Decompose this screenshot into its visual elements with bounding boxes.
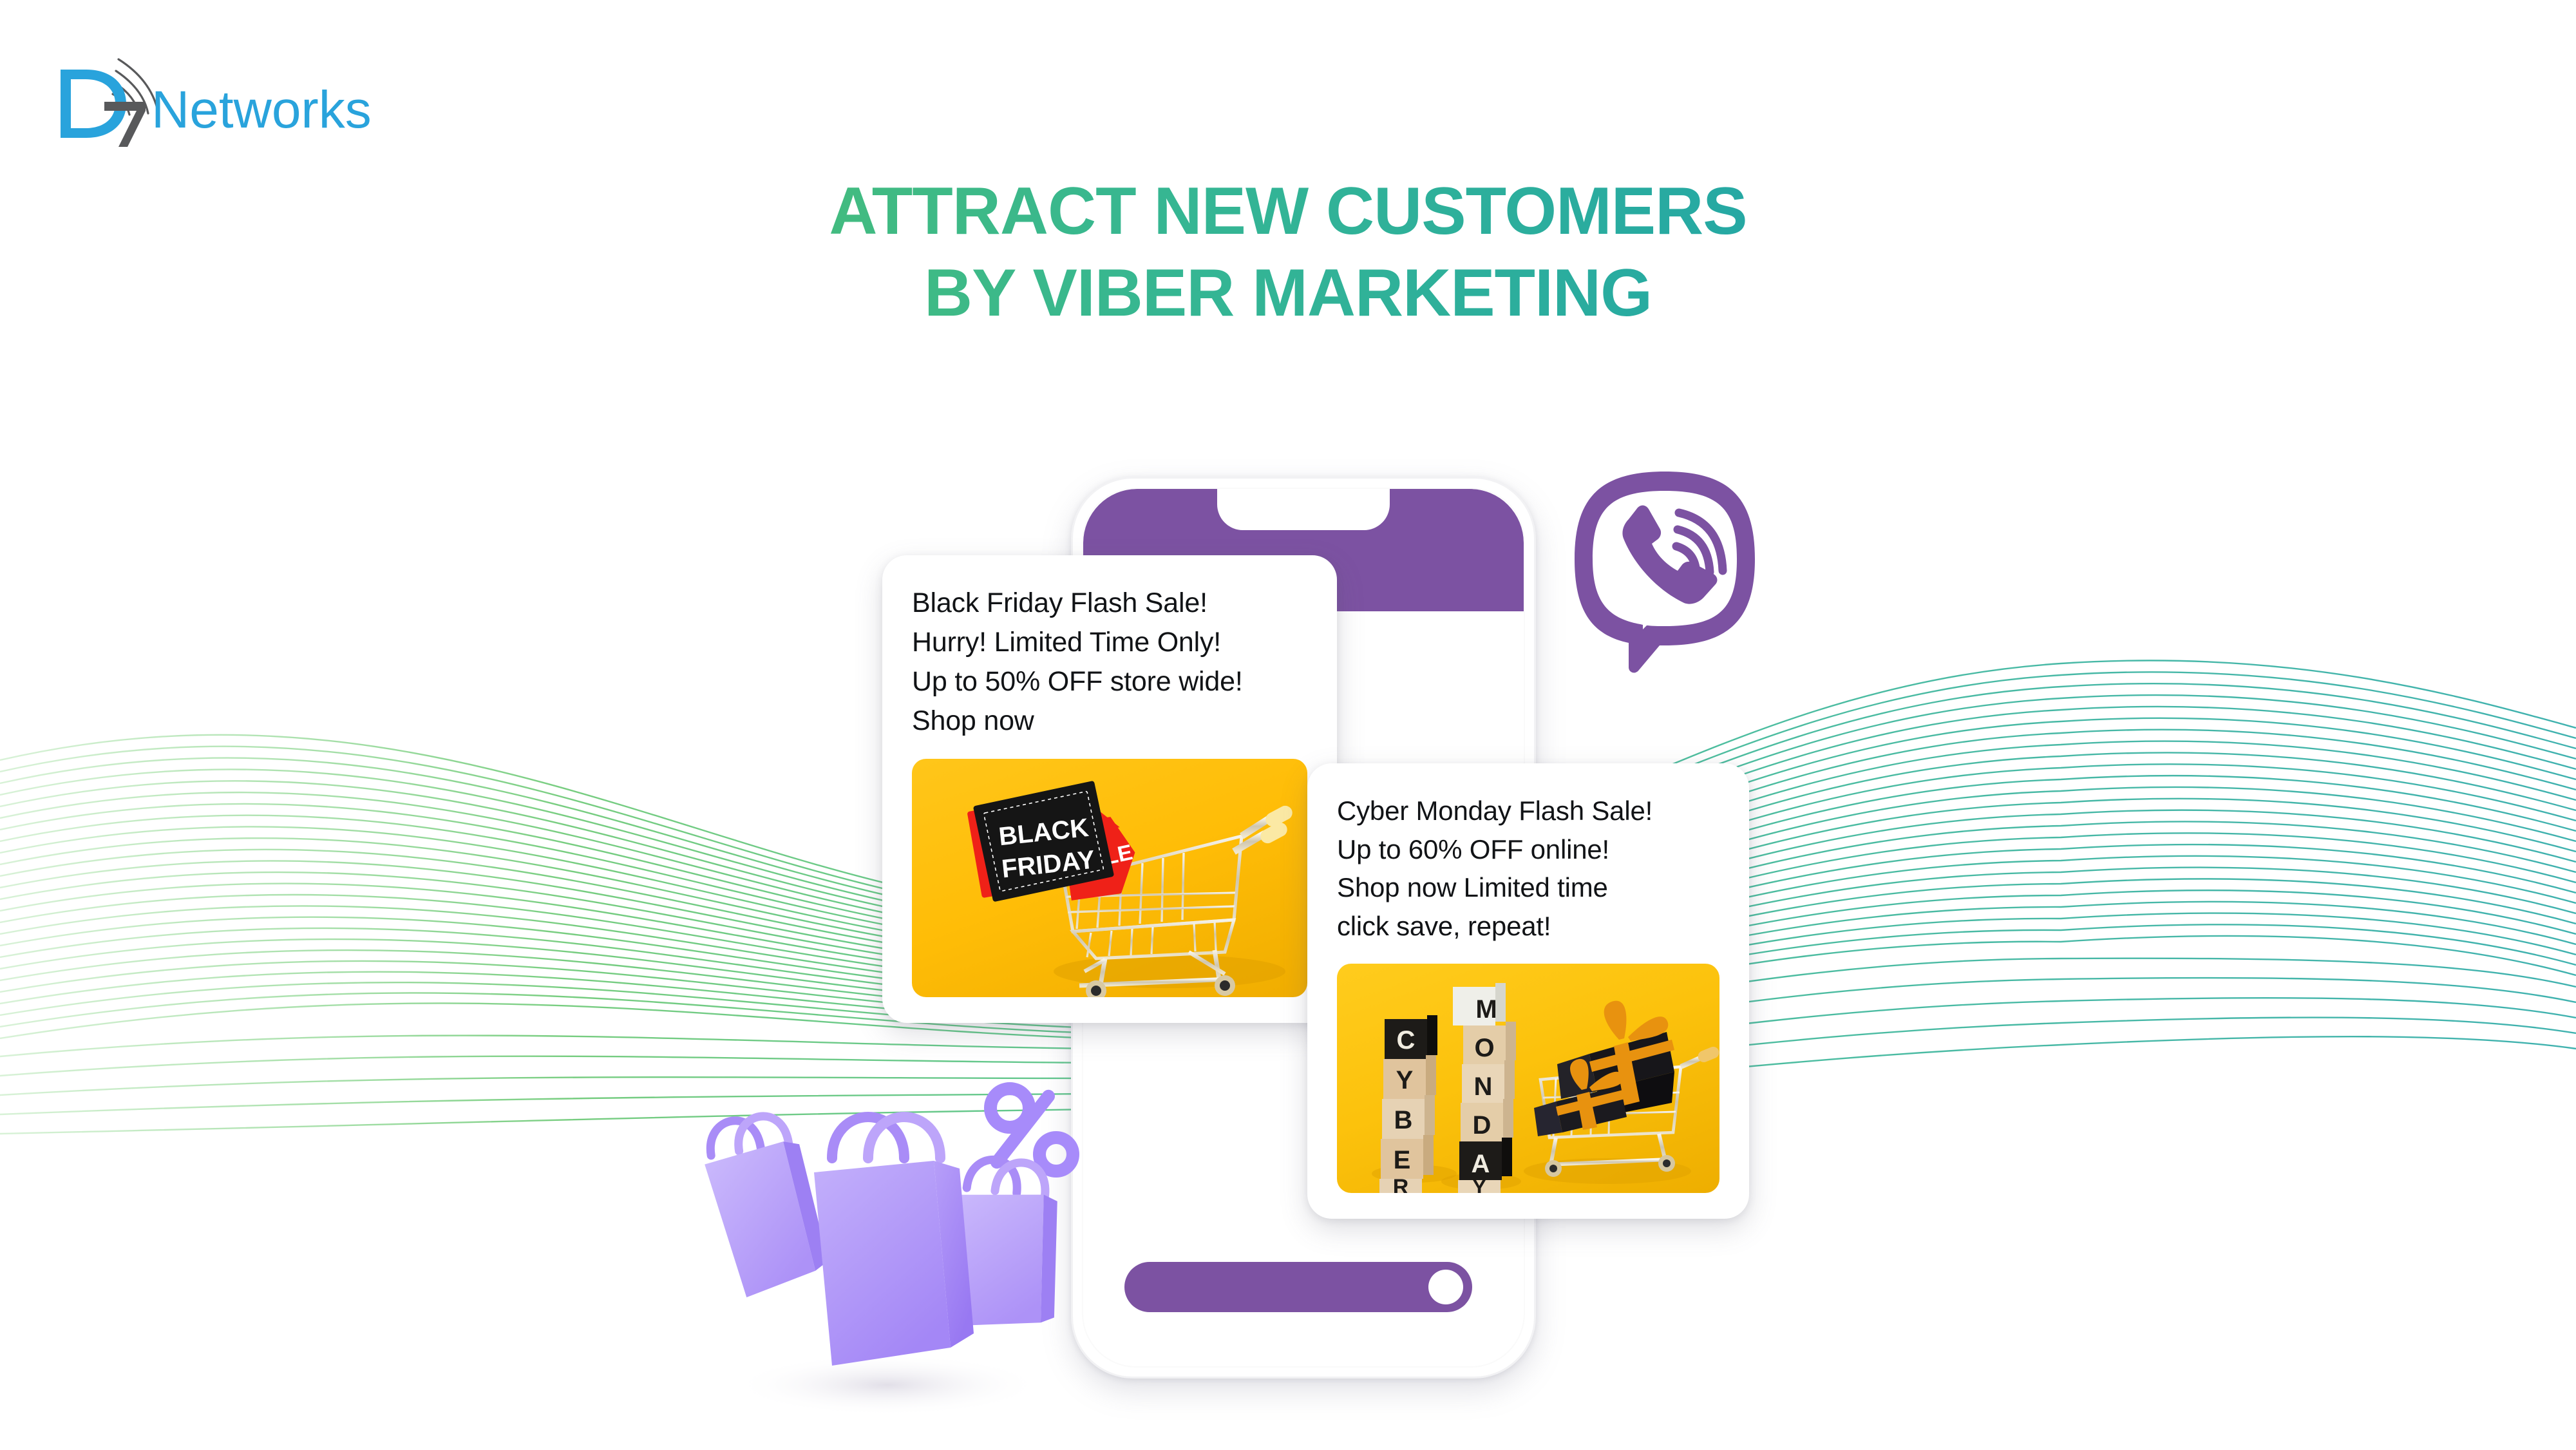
brand-logo[interactable]: Networks bbox=[52, 52, 412, 148]
monday-letter-blocks: M O N D A Y bbox=[1453, 983, 1516, 1193]
svg-text:R: R bbox=[1393, 1175, 1409, 1193]
headline-line-1: ATTRACT NEW CUSTOMERS bbox=[0, 171, 2576, 253]
svg-text:C: C bbox=[1397, 1026, 1416, 1054]
shopping-bag-left bbox=[699, 1109, 832, 1301]
black-friday-cart-photo: SALE BLACK FRIDAY bbox=[912, 759, 1307, 997]
viber-logo-icon bbox=[1562, 463, 1768, 675]
poster-canvas: Networks ATTRACT NEW CUSTOMERS BY VIBER … bbox=[0, 0, 2576, 1450]
svg-text:E: E bbox=[1394, 1146, 1411, 1174]
svg-text:N: N bbox=[1474, 1073, 1493, 1101]
chat-bubble-cyber-monday[interactable]: Cyber Monday Flash Sale! Up to 60% OFF o… bbox=[1307, 763, 1749, 1219]
svg-text:O: O bbox=[1474, 1034, 1494, 1062]
bubble-text-cyber-monday: Cyber Monday Flash Sale! Up to 60% OFF o… bbox=[1337, 792, 1719, 946]
chat-input-bar[interactable] bbox=[1124, 1262, 1472, 1312]
svg-text:M: M bbox=[1475, 995, 1497, 1024]
bubble-text-black-friday: Black Friday Flash Sale! Hurry! Limited … bbox=[912, 584, 1307, 741]
logo-wordmark: Networks bbox=[151, 81, 372, 139]
svg-text:D: D bbox=[1473, 1111, 1492, 1140]
headline-line-2: BY VIBER MARKETING bbox=[0, 253, 2576, 334]
svg-text:Y: Y bbox=[1472, 1176, 1486, 1193]
bags-shadow bbox=[733, 1354, 1042, 1416]
page-title: ATTRACT NEW CUSTOMERS BY VIBER MARKETING bbox=[0, 171, 2576, 334]
cyber-letter-blocks: C Y B E R bbox=[1379, 1015, 1437, 1193]
chat-bubble-black-friday[interactable]: Black Friday Flash Sale! Hurry! Limited … bbox=[882, 555, 1337, 1023]
svg-text:A: A bbox=[1472, 1150, 1490, 1178]
shopping-bags-illustration bbox=[694, 1063, 1094, 1430]
svg-text:B: B bbox=[1394, 1106, 1413, 1134]
shopping-bag-center bbox=[814, 1117, 974, 1366]
send-button-knob[interactable] bbox=[1428, 1270, 1463, 1304]
black-gift-boxes bbox=[1534, 1000, 1674, 1136]
svg-text:Y: Y bbox=[1396, 1066, 1414, 1094]
cyber-monday-blocks-photo: C Y B E R bbox=[1337, 964, 1719, 1193]
phone-notch bbox=[1217, 488, 1390, 530]
